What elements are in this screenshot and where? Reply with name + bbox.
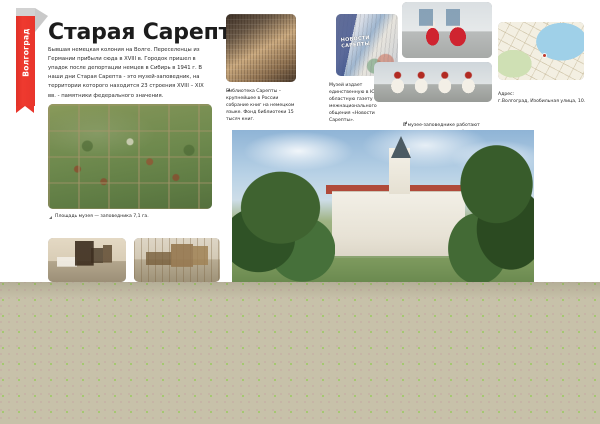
photo-aerial-model[interactable] [48, 104, 212, 209]
photo-library-image [226, 14, 296, 82]
intro-paragraph: Бывшая немецкая колония на Волге. Пересе… [48, 46, 212, 101]
photo-dancers-red-image [402, 2, 492, 58]
caption-library: Библиотека Сарепты – крупнейшее в России… [226, 89, 296, 124]
address-value: г.Волгоград, Изобильная улица, 10. [498, 99, 598, 106]
photo-sarepta-kirche-image [232, 130, 534, 282]
photo-bedroom-interior-image [48, 238, 126, 282]
photo-aerial-model-image [48, 104, 212, 209]
tower-spire [391, 136, 411, 158]
section-ribbon[interactable]: Волгоград [16, 16, 35, 106]
slide-canvas: Волгоград Старая Сарепта Бывшая немецкая… [0, 0, 600, 424]
photo-workshop-interior[interactable] [134, 238, 220, 282]
ribbon-fold-corner-icon [35, 8, 48, 32]
tree-left [232, 166, 335, 282]
ribbon-label: Волгоград [22, 17, 31, 89]
ribbon-notch [16, 106, 34, 113]
tree-right [443, 145, 534, 282]
photo-location-map[interactable] [498, 22, 584, 80]
photo-dancers-red[interactable] [402, 2, 492, 58]
photo-sarepta-kirche[interactable] [232, 130, 534, 282]
photo-location-map-image [498, 22, 584, 80]
address-label: Адрес: [498, 92, 594, 99]
photo-dancers-white-image [374, 62, 492, 102]
photo-dancers-white[interactable] [374, 62, 492, 102]
page-shadow [0, 281, 600, 299]
photo-library[interactable] [226, 14, 296, 82]
page-title: Старая Сарепта [48, 20, 246, 45]
photo-bedroom-interior[interactable] [48, 238, 126, 282]
caption-aerial: Площадь музея — заповедника 7,1 га. [55, 214, 205, 221]
desk-surface [0, 281, 600, 424]
photo-workshop-interior-image [134, 238, 220, 282]
caption-arrow-icon [49, 216, 52, 219]
